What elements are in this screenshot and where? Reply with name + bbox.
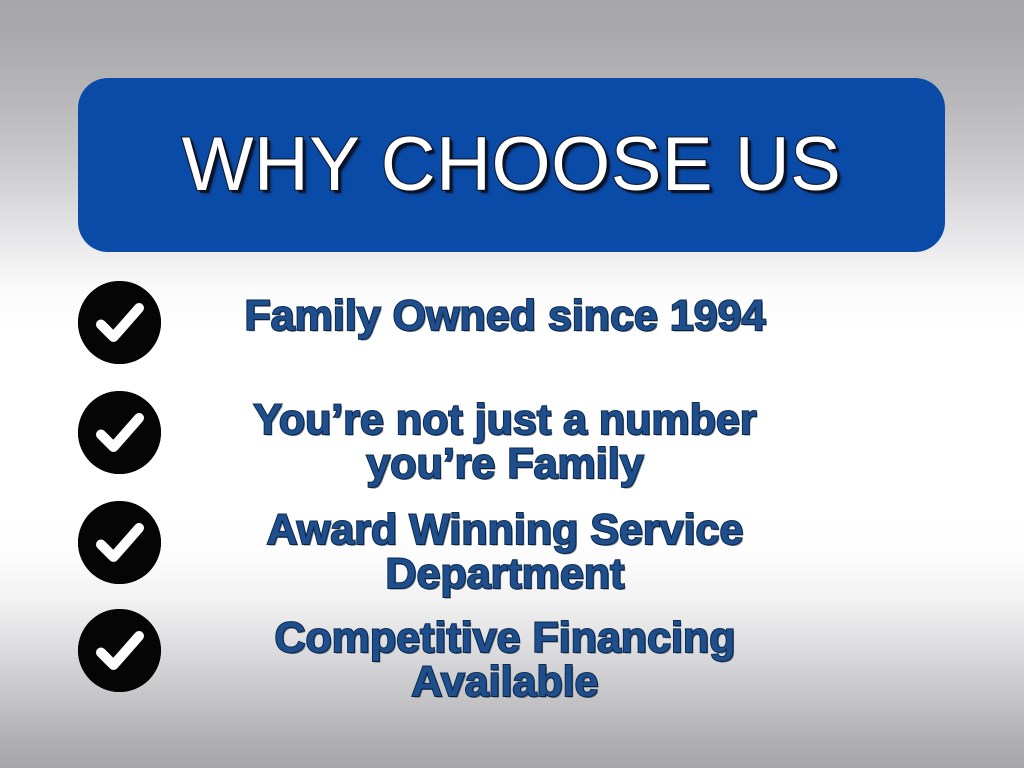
check-circle-icon (78, 501, 161, 584)
list-item-text: Award Winning Service Department (175, 508, 835, 597)
list-item-line: Competitive Financing (175, 616, 835, 660)
title-banner: WHY CHOOSE US (78, 78, 945, 252)
list-item-line: Family Owned since 1994 (175, 294, 835, 338)
list-item-text: You’re not just a number you’re Family (175, 398, 835, 487)
check-circle-icon (78, 281, 161, 364)
check-circle-icon (78, 391, 161, 474)
page-title: WHY CHOOSE US (182, 127, 842, 203)
slide-canvas: WHY CHOOSE US Family Owned since 1994 (0, 0, 1024, 768)
list-item-line: Available (175, 660, 835, 704)
check-circle-icon (78, 609, 161, 692)
list-item-line: you’re Family (175, 442, 835, 486)
list-item-text: Family Owned since 1994 (175, 294, 835, 338)
list-item-line: You’re not just a number (175, 398, 835, 442)
list-item-text: Competitive Financing Available (175, 616, 835, 705)
list-item-line: Department (175, 552, 835, 596)
list-item-line: Award Winning Service (175, 508, 835, 552)
